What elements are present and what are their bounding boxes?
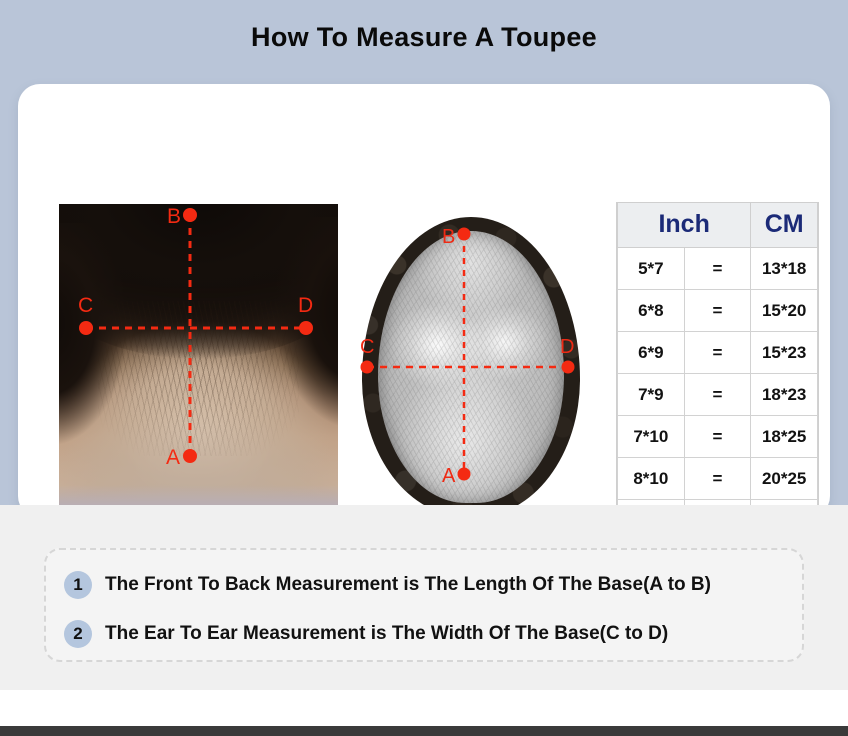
table-header-cm: CM	[751, 203, 818, 248]
cell-inch: 5*7	[618, 248, 685, 290]
toupee-base-dome	[378, 231, 564, 503]
cell-equals: =	[684, 290, 751, 332]
cell-inch: 6*9	[618, 332, 685, 374]
cell-cm: 18*25	[751, 416, 818, 458]
bottom-dark-bar	[0, 726, 848, 736]
table-row: 8*10 = 20*25	[618, 458, 818, 500]
table-row: 6*9 = 15*23	[618, 332, 818, 374]
cell-inch: 7*9	[618, 374, 685, 416]
cell-cm: 15*23	[751, 332, 818, 374]
instruction-badge-2: 2	[64, 620, 92, 648]
size-conversion-table: Inch CM 5*7 = 13*18 6*8 = 15*20	[616, 202, 819, 543]
cell-inch: 7*10	[618, 416, 685, 458]
table-row: 5*7 = 13*18	[618, 248, 818, 290]
cell-equals: =	[684, 248, 751, 290]
page-title: How To Measure A Toupee	[0, 22, 848, 53]
instructions-box: 1 The Front To Back Measurement is The L…	[44, 548, 804, 662]
thinning-hair-texture	[98, 301, 299, 456]
bottom-white-strip	[0, 690, 848, 726]
cell-equals: =	[684, 374, 751, 416]
instruction-item: 2 The Ear To Ear Measurement is The Widt…	[64, 620, 668, 648]
table-row: 7*10 = 18*25	[618, 416, 818, 458]
cell-equals: =	[684, 332, 751, 374]
cell-inch: 6*8	[618, 290, 685, 332]
cell-cm: 13*18	[751, 248, 818, 290]
table-header-row: Inch CM	[618, 203, 818, 248]
cell-inch: 8*10	[618, 458, 685, 500]
infographic-page: How To Measure A Toupee B	[0, 0, 848, 736]
table-header-inch: Inch	[618, 203, 751, 248]
instruction-badge-1: 1	[64, 571, 92, 599]
table-row: 6*8 = 15*20	[618, 290, 818, 332]
cell-equals: =	[684, 458, 751, 500]
measurement-card: B A C D AB= Length B A C	[18, 84, 830, 518]
cell-equals: =	[684, 416, 751, 458]
toupee-base-texture	[378, 231, 564, 503]
instruction-item: 1 The Front To Back Measurement is The L…	[64, 571, 711, 599]
instruction-text-2: The Ear To Ear Measurement is The Width …	[105, 623, 668, 645]
instruction-text-1: The Front To Back Measurement is The Len…	[105, 574, 711, 596]
cell-cm: 15*20	[751, 290, 818, 332]
table-row: 7*9 = 18*23	[618, 374, 818, 416]
scalp-photo: B A C D	[59, 204, 338, 527]
toupee-photo: B A C D	[354, 209, 588, 524]
cell-cm: 20*25	[751, 458, 818, 500]
cell-cm: 18*23	[751, 374, 818, 416]
